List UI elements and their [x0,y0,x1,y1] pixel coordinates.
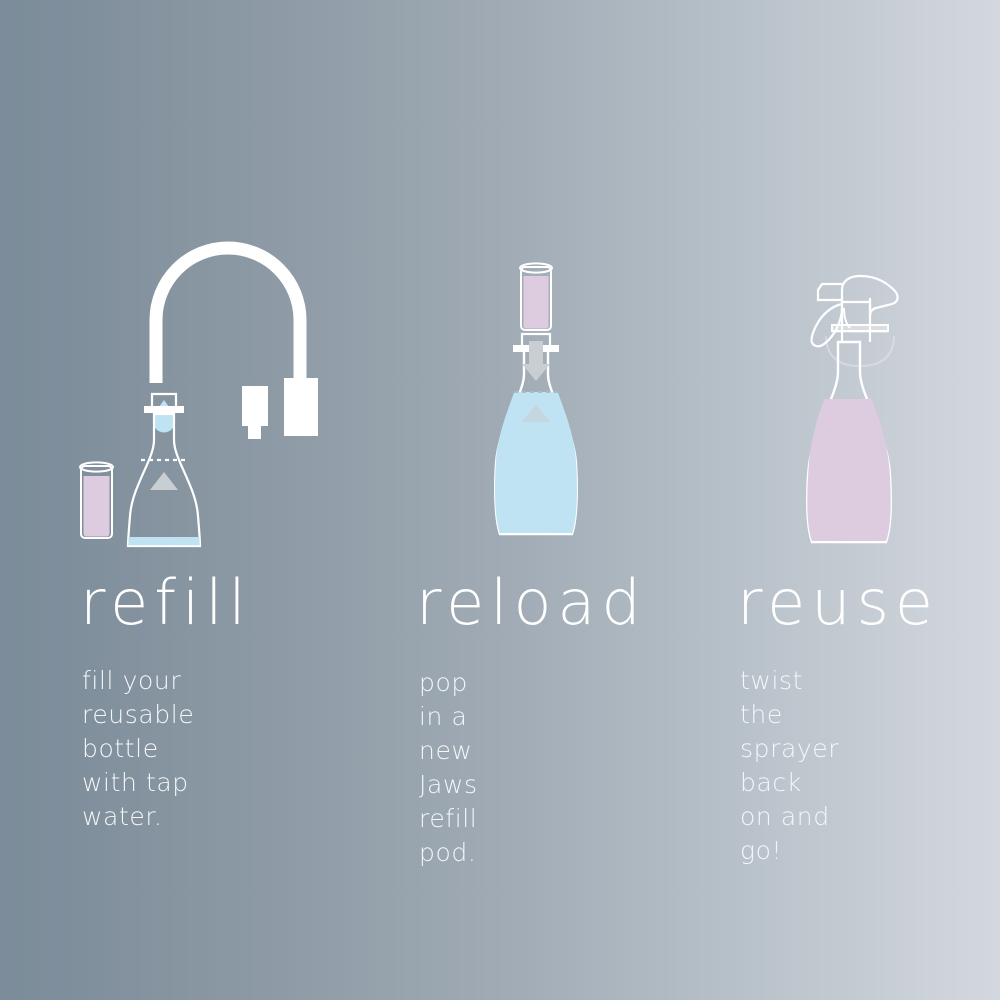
faucet-bottle-pod-graphic [60,228,360,548]
sprayer-nozzle-icon [818,284,842,300]
step-headline-refill: refill [80,572,252,634]
faucet-handle-icon [242,386,268,426]
sprayer-head-shell-icon [842,276,898,316]
step-caption-refill: fill your reusable bottle with tap water… [82,664,194,834]
bottle-with-pod-graphic [440,238,640,548]
spray-bottle-graphic [760,268,960,548]
poster-canvas: refill fill your reusable bottle with ta… [0,0,1000,1000]
pod-vial-liquid-icon [84,476,110,537]
faucet-body-icon [284,378,318,436]
spray-bottle-liquid-icon [807,399,890,541]
water-drop-icon [153,400,175,433]
bottle-water-level-icon [128,537,199,545]
step-headline-reload: reload [416,572,647,634]
refill-pod-liquid-icon [524,276,549,329]
fill-triangle-marker-icon [150,472,178,490]
illustration-faucet-bottle-pod [60,228,360,548]
illustration-bottle-with-pod [440,238,640,548]
step-caption-reload: pop in a new Jaws refill pod. [419,666,478,870]
step-caption-reuse: twist the sprayer back on and go! [740,664,839,868]
bottle-collar-ring-icon [144,406,184,413]
illustration-spray-bottle [760,268,960,548]
faucet-handle-foot-icon [248,426,261,439]
faucet-spout-icon [156,248,300,380]
step-headline-reuse: reuse [737,572,939,634]
faucet-spout-tip-icon [150,373,163,383]
